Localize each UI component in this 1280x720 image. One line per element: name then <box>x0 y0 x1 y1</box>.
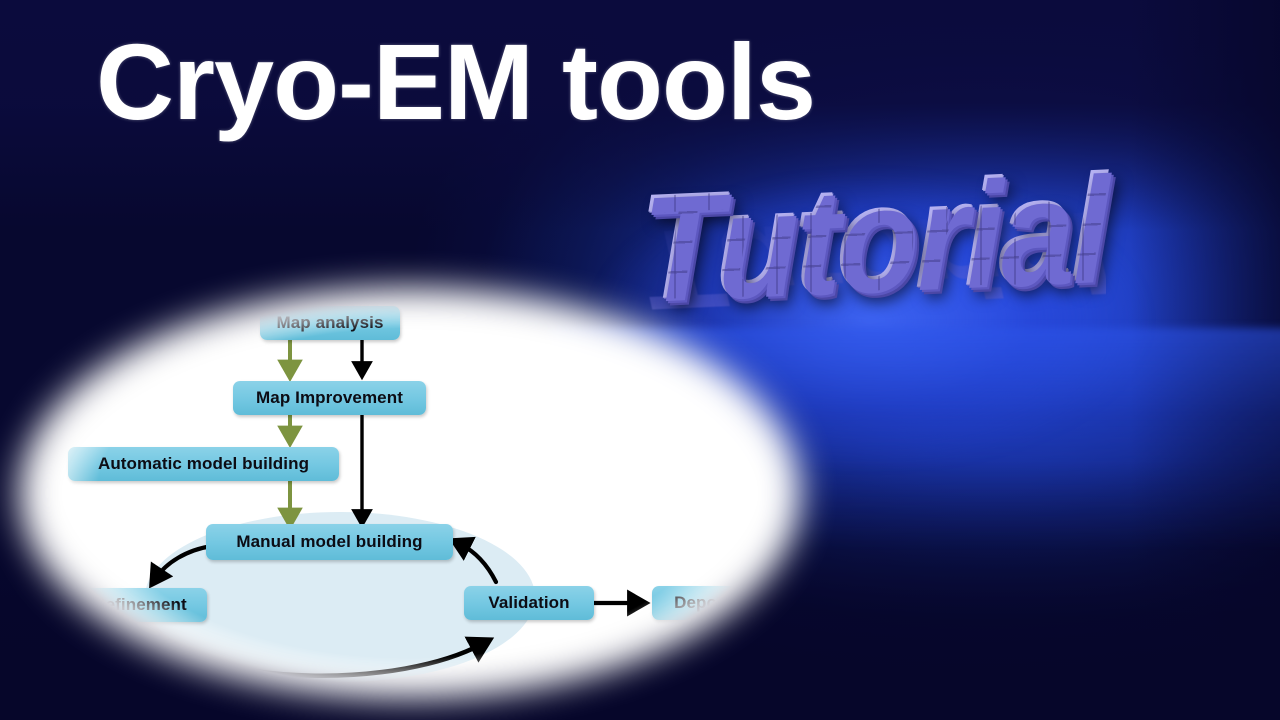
node-map-analysis[interactable]: Map analysis <box>260 306 400 340</box>
slide-canvas: Tutorial Tutorial Tutorial Cryo-EM tools <box>0 0 1280 720</box>
flowchart: Map analysis Map Improvement Automatic m… <box>0 278 820 708</box>
edge-manual-refinement <box>156 546 212 578</box>
node-map-improvement[interactable]: Map Improvement <box>233 381 426 415</box>
flowchart-connectors <box>0 278 820 708</box>
node-deposition[interactable]: Deposition <box>652 586 785 620</box>
flowchart-spotlight: Map analysis Map Improvement Automatic m… <box>0 278 820 708</box>
edge-validation-manual <box>460 544 496 582</box>
node-validation[interactable]: Validation <box>464 586 594 620</box>
edge-refinement-validation <box>148 633 482 676</box>
node-refinement[interactable]: Refinement <box>73 588 207 622</box>
node-automatic-model-building[interactable]: Automatic model building <box>68 447 339 481</box>
page-title: Cryo-EM tools <box>96 28 815 136</box>
node-manual-model-building[interactable]: Manual model building <box>206 524 453 560</box>
